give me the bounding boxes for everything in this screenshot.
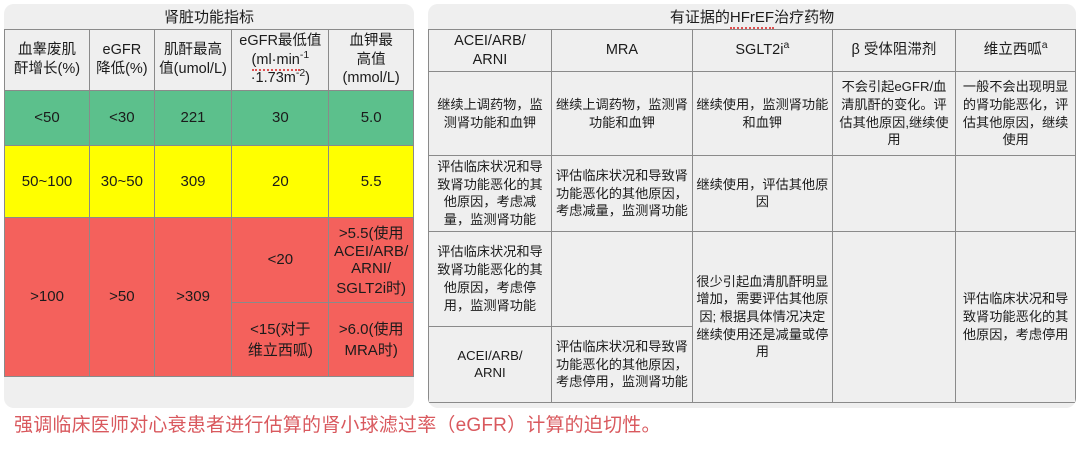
- cell-sglt2i-green: 继续使用，监测肾功能和血钾: [692, 72, 832, 156]
- cell-mra-red-upper: [551, 231, 692, 326]
- hdr-line: ARNI: [473, 52, 508, 68]
- cell-egfr-min-red-upper: <20: [232, 217, 329, 302]
- title-marked-term: HFrEF: [730, 9, 774, 29]
- hdr-line: (mmol/L): [343, 70, 400, 86]
- header-egfr-min: eGFR最低值 (ml·min-1 ·1.73m-2): [232, 30, 329, 91]
- cell-scr-increase-yellow: 50~100: [5, 145, 90, 217]
- header-serum-creatinine-increase: 血睾废肌 酐增长(%): [5, 30, 90, 91]
- hdr-line: 维立西呱: [984, 42, 1042, 58]
- cell-line: ACEI/ARB/: [334, 243, 408, 260]
- cell-mra-red-lower: 评估临床状况和导致肾功能恶化的其他原因，考虑停用，监测肾功能: [551, 326, 692, 402]
- header-potassium-max: 血钾最 高值 (mmol/L): [329, 30, 414, 91]
- title-part: 治疗药物: [774, 9, 834, 26]
- header-vericiguat: 维立西呱a: [956, 30, 1076, 72]
- title-part: 有证据的: [670, 9, 730, 26]
- header-creatinine-max: 肌酐最高 值(umol/L): [154, 30, 232, 91]
- hdr-line: eGFR: [103, 42, 142, 58]
- cell-acei-red-lower: ACEI/ARB/ ARNI: [429, 326, 552, 402]
- cell-egfr-drop-green: <30: [90, 90, 155, 145]
- cell-acei-green: 继续上调药物，监测肾功能和血钾: [429, 72, 552, 156]
- hdr-line: ACEI/ARB/: [454, 33, 526, 49]
- hdr-line: 肌酐最高: [164, 42, 222, 58]
- hdr-sup: -2: [296, 68, 305, 79]
- cell-egfr-drop-red: >50: [90, 217, 155, 376]
- table-row: >100 >50 >309 <20 >5.5(使用 ACEI/ARB/ ARNI…: [5, 217, 414, 302]
- cell-line: >6.0(使用: [339, 321, 404, 338]
- cell-vericiguat-green: 一般不会出现明显的肾功能恶化，评估其他原因，继续使用: [956, 72, 1076, 156]
- header-mra: MRA: [551, 30, 692, 72]
- hfref-therapy-table: 有证据的HFrEF治疗药物 ACEI/ARB/ ARNI MRA SGLT2ia…: [428, 4, 1076, 403]
- header-beta-blocker: β 受体阻滞剂: [832, 30, 956, 72]
- hdr-line: 血睾废肌: [18, 42, 76, 58]
- right-table-header-row: ACEI/ARB/ ARNI MRA SGLT2ia β 受体阻滞剂 维立西呱a: [429, 30, 1076, 72]
- cell-egfr-min-red-lower: <15(对于 维立西呱): [232, 302, 329, 376]
- hdr-line: 降低(%): [96, 61, 148, 77]
- hdr-line: 值(umol/L): [159, 61, 227, 77]
- left-table-body: <50 <30 221 30 5.0 50~100 30~50 309 20 5…: [5, 90, 414, 376]
- cell-acei-yellow: 评估临床状况和导致肾功能恶化的其他原因，考虑减量，监测肾功能: [429, 156, 552, 232]
- header-acei-arb-arni: ACEI/ARB/ ARNI: [429, 30, 552, 72]
- cell-scr-increase-green: <50: [5, 90, 90, 145]
- cell-beta-red: [832, 231, 956, 402]
- figure-caption: 强调临床医师对心衰患者进行估算的肾小球滤过率（eGFR）计算的迫切性。: [14, 414, 1064, 439]
- cell-vericiguat-red: 评估临床状况和导致肾功能恶化的其他原因，考虑停用: [956, 231, 1076, 402]
- hdr-line: eGFR最低值: [239, 33, 321, 49]
- cell-potassium-green: 5.0: [329, 90, 414, 145]
- cell-beta-green: 不会引起eGFR/血清肌酐的变化。评估其他原因,继续使用: [832, 72, 956, 156]
- cell-scr-increase-red: >100: [5, 217, 90, 376]
- hdr-sup: a: [783, 40, 789, 51]
- cell-line: ACEI/ARB/: [457, 348, 522, 363]
- cell-egfr-drop-yellow: 30~50: [90, 145, 155, 217]
- hdr-line: ): [305, 70, 310, 86]
- cell-line: >5.5(使用: [339, 225, 404, 242]
- cell-line: SGLT2i时): [336, 280, 406, 297]
- cell-vericiguat-yellow: [956, 156, 1076, 232]
- cell-sglt2i-yellow: 继续使用，评估其他原因: [692, 156, 832, 232]
- right-table-body: 继续上调药物，监测肾功能和血钾 继续上调药物，监测肾功能和血钾 继续使用，监测肾…: [429, 72, 1076, 403]
- left-table-title-row: 肾脏功能指标: [5, 4, 414, 30]
- cell-potassium-yellow: 5.5: [329, 145, 414, 217]
- cell-egfr-min-yellow: 20: [232, 145, 329, 217]
- cell-potassium-red-upper: >5.5(使用 ACEI/ARB/ ARNI/ SGLT2i时): [329, 217, 414, 302]
- cell-line: ARNI: [474, 365, 506, 380]
- left-table-title: 肾脏功能指标: [5, 4, 414, 30]
- cell-creatinine-green: 221: [154, 90, 232, 145]
- cell-mra-green: 继续上调药物，监测肾功能和血钾: [551, 72, 692, 156]
- cell-creatinine-yellow: 309: [154, 145, 232, 217]
- screenshot-root: 肾脏功能指标 血睾废肌 酐增长(%) eGFR 降低(%) 肌酐最高 值(umo…: [0, 0, 1080, 456]
- cell-creatinine-red: >309: [154, 217, 232, 376]
- table-row: 评估临床状况和导致肾功能恶化的其他原因，考虑停用，监测肾功能 很少引起血清肌酐明…: [429, 231, 1076, 326]
- cell-potassium-red-lower: >6.0(使用 MRA时): [329, 302, 414, 376]
- cell-line: <15(对于: [250, 321, 310, 338]
- hdr-line: 高值: [357, 52, 386, 68]
- kidney-function-indicators-card: 肾脏功能指标 血睾废肌 酐增长(%) eGFR 降低(%) 肌酐最高 值(umo…: [4, 4, 414, 408]
- header-sglt2i: SGLT2ia: [692, 30, 832, 72]
- cell-line: MRA时): [344, 342, 397, 359]
- kidney-function-table: 肾脏功能指标 血睾废肌 酐增长(%) eGFR 降低(%) 肌酐最高 值(umo…: [4, 4, 414, 377]
- cell-sglt2i-red: 很少引起血清肌酐明显增加，需要评估其他原因; 根据具体情况决定继续使用还是减量或…: [692, 231, 832, 402]
- header-egfr-decrease: eGFR 降低(%): [90, 30, 155, 91]
- cell-line: 维立西呱): [248, 342, 313, 359]
- table-row: 评估临床状况和导致肾功能恶化的其他原因，考虑减量，监测肾功能 评估临床状况和导致…: [429, 156, 1076, 232]
- cell-mra-yellow: 评估临床状况和导致肾功能恶化的其他原因，考虑减量，监测肾功能: [551, 156, 692, 232]
- right-table-title: 有证据的HFrEF治疗药物: [429, 4, 1076, 30]
- table-row: 50~100 30~50 309 20 5.5: [5, 145, 414, 217]
- cell-egfr-min-green: 30: [232, 90, 329, 145]
- table-row: <50 <30 221 30 5.0: [5, 90, 414, 145]
- cell-acei-red-upper: 评估临床状况和导致肾功能恶化的其他原因，考虑停用，监测肾功能: [429, 231, 552, 326]
- cell-line: ARNI/: [351, 260, 391, 277]
- hdr-line: ·1.73m: [251, 70, 296, 86]
- hdr-sup: -1: [300, 50, 309, 61]
- hdr-sup: a: [1042, 40, 1048, 51]
- hdr-line-unit: (ml·min: [252, 52, 300, 71]
- table-row: 继续上调药物，监测肾功能和血钾 继续上调药物，监测肾功能和血钾 继续使用，监测肾…: [429, 72, 1076, 156]
- left-table-header-row: 血睾废肌 酐增长(%) eGFR 降低(%) 肌酐最高 值(umol/L) eG…: [5, 30, 414, 91]
- hdr-line: SGLT2i: [735, 42, 783, 58]
- cell-beta-yellow: [832, 156, 956, 232]
- right-table-title-row: 有证据的HFrEF治疗药物: [429, 4, 1076, 30]
- hdr-line: 酐增长(%): [14, 61, 80, 77]
- hdr-line: 血钾最: [349, 33, 393, 49]
- hfref-therapy-drugs-card: 有证据的HFrEF治疗药物 ACEI/ARB/ ARNI MRA SGLT2ia…: [428, 4, 1076, 408]
